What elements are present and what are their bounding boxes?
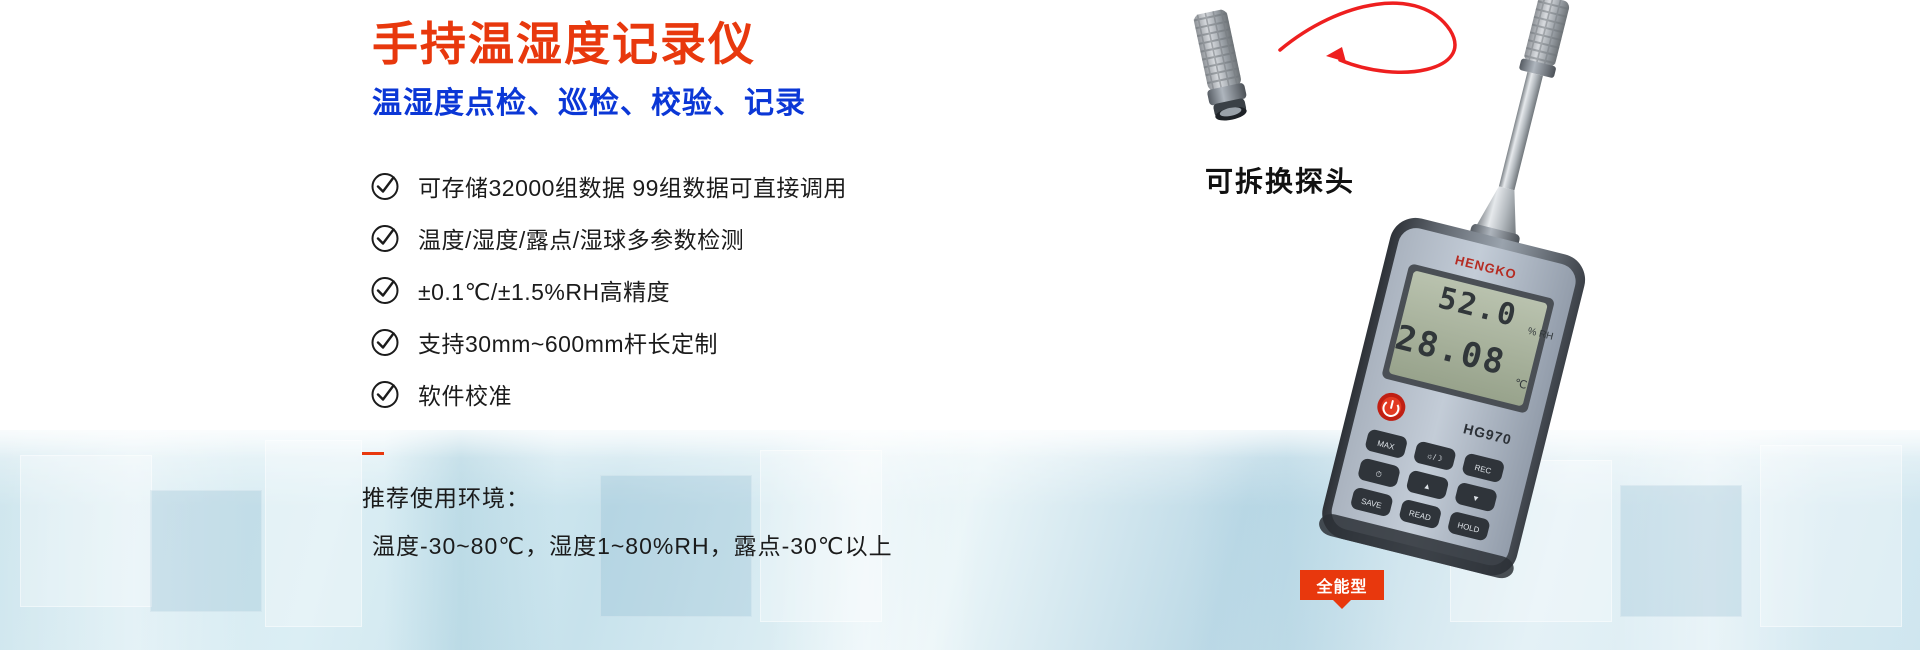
feature-list: 可存储32000组数据 99组数据可直接调用 温度/湿度/露点/湿球多参数检测 … xyxy=(370,160,1070,420)
note-line-1: 推荐使用环境： xyxy=(362,479,1122,513)
list-item: 可存储32000组数据 99组数据可直接调用 xyxy=(370,160,1070,212)
feature-label: 温度/湿度/露点/湿球多参数检测 xyxy=(418,221,744,255)
list-item: 支持30mm~600mm杆长定制 xyxy=(370,316,1070,368)
page-title: 手持温湿度记录仪 xyxy=(372,8,756,74)
product-illustration: HENGKO 52.0 % RH 28.08 ℃ HG970 xyxy=(1150,0,1770,640)
list-item: 软件校准 xyxy=(370,368,1070,420)
bg-block xyxy=(1760,445,1902,627)
check-circle-icon xyxy=(370,171,400,201)
note-line-2: 温度-30~80℃，湿度1~80%RH，露点-30℃以上 xyxy=(362,527,1122,561)
feature-label: 支持30mm~600mm杆长定制 xyxy=(418,325,718,359)
bg-block xyxy=(20,455,152,607)
bg-block xyxy=(265,440,362,627)
product-banner: 手持温湿度记录仪 温湿度点检、巡检、校验、记录 可存储32000组数据 99组数… xyxy=(0,0,1920,650)
status-badge: 全能型 xyxy=(1300,570,1384,600)
list-item: ±0.1℃/±1.5%RH高精度 xyxy=(370,264,1070,316)
usage-note: 推荐使用环境： 温度-30~80℃，湿度1~80%RH，露点-30℃以上 xyxy=(362,452,1122,561)
bg-block xyxy=(150,490,262,612)
feature-label: 可存储32000组数据 99组数据可直接调用 xyxy=(418,169,847,203)
check-circle-icon xyxy=(370,223,400,253)
check-circle-icon xyxy=(370,275,400,305)
list-item: 温度/湿度/露点/湿球多参数检测 xyxy=(370,212,1070,264)
feature-label: 软件校准 xyxy=(418,377,512,411)
check-circle-icon xyxy=(370,327,400,357)
check-circle-icon xyxy=(370,379,400,409)
main-device: HENGKO 52.0 % RH 28.08 ℃ HG970 xyxy=(1317,0,1650,581)
page-subtitle: 温湿度点检、巡检、校验、记录 xyxy=(372,78,806,122)
note-dash-icon xyxy=(362,452,384,455)
detached-probe xyxy=(1191,8,1251,123)
feature-label: ±0.1℃/±1.5%RH高精度 xyxy=(418,273,670,307)
